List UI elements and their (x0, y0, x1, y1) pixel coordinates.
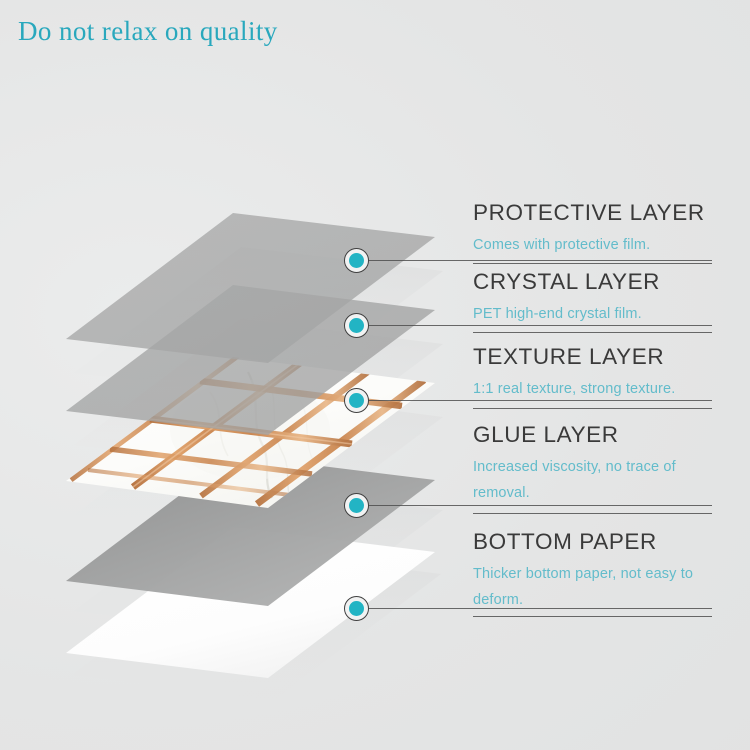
product-layer-diagram: Do not relax on quality (0, 0, 750, 750)
label-heading-protective-layer: PROTECTIVE LAYER (473, 201, 705, 225)
marker-dot-texture-layer[interactable] (344, 388, 369, 413)
label-glue-layer: GLUE LAYER Increased viscosity, no trace… (473, 423, 718, 507)
label-bottom-paper: BOTTOM PAPER Thicker bottom paper, not e… (473, 530, 721, 614)
label-heading-glue-layer: GLUE LAYER (473, 423, 718, 447)
label-desc-protective-layer: Comes with protective film. (473, 232, 705, 259)
label-crystal-layer: CRYSTAL LAYER PET high-end crystal film. (473, 270, 660, 327)
label-desc-glue-layer: Increased viscosity, no trace of removal… (473, 454, 718, 508)
label-protective-layer: PROTECTIVE LAYER Comes with protective f… (473, 201, 705, 258)
rule-protective-layer (473, 263, 712, 264)
marker-dot-bottom-paper[interactable] (344, 596, 369, 621)
label-heading-bottom-paper: BOTTOM PAPER (473, 530, 721, 554)
marker-dot-protective-layer[interactable] (344, 248, 369, 273)
rule-glue-layer (473, 513, 712, 514)
label-desc-texture-layer: 1:1 real texture, strong texture. (473, 376, 675, 403)
rule-bottom-paper (473, 616, 712, 617)
label-desc-crystal-layer: PET high-end crystal film. (473, 301, 660, 328)
marker-dot-glue-layer[interactable] (344, 493, 369, 518)
rule-crystal-layer (473, 332, 712, 333)
callout-labels: PROTECTIVE LAYER Comes with protective f… (0, 0, 750, 750)
label-desc-bottom-paper: Thicker bottom paper, not easy to deform… (473, 561, 721, 615)
rule-texture-layer (473, 408, 712, 409)
marker-dot-crystal-layer[interactable] (344, 313, 369, 338)
connector-line-protective-layer (368, 260, 712, 261)
label-heading-crystal-layer: CRYSTAL LAYER (473, 270, 660, 294)
label-heading-texture-layer: TEXTURE LAYER (473, 345, 675, 369)
label-texture-layer: TEXTURE LAYER 1:1 real texture, strong t… (473, 345, 675, 402)
